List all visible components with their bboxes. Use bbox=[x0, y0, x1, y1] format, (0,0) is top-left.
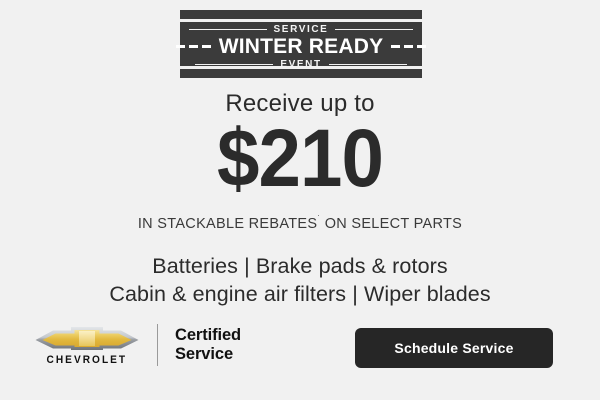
banner-footer-label: EVENT bbox=[280, 60, 321, 70]
banner-dashes-right-icon bbox=[391, 45, 426, 48]
certified-line-2: Service bbox=[175, 345, 241, 364]
banner-rule-left-icon bbox=[189, 29, 267, 30]
banner-title-row: WINTER READY bbox=[180, 35, 422, 57]
chevrolet-certified-service-lockup: CHEVROLET Certified Service bbox=[30, 324, 241, 366]
chevrolet-wordmark: CHEVROLET bbox=[46, 355, 127, 366]
banner-rule-left-lower-icon bbox=[195, 64, 273, 65]
banner-rule-right-lower-icon bbox=[329, 64, 407, 65]
banner-eyebrow-label: SERVICE bbox=[274, 25, 329, 35]
banner-footer-row: EVENT bbox=[180, 58, 422, 71]
parts-line-2: Cabin & engine air filters | Wiper blade… bbox=[0, 280, 600, 308]
chevrolet-logo-block: CHEVROLET bbox=[30, 325, 143, 366]
banner-rule-right-icon bbox=[335, 29, 413, 30]
advertisement-root: SERVICE WINTER READY EVENT Receive up to… bbox=[0, 0, 600, 400]
offer-disclaimer-tail: ON SELECT PARTS bbox=[320, 216, 462, 232]
offer-amount: $210 bbox=[21, 118, 579, 200]
schedule-service-button[interactable]: Schedule Service bbox=[355, 328, 553, 368]
parts-line-1: Batteries | Brake pads & rotors bbox=[0, 252, 600, 280]
chevrolet-bowtie-icon bbox=[33, 325, 141, 352]
certified-service-label: Certified Service bbox=[175, 326, 241, 365]
eligible-parts-list: Batteries | Brake pads & rotors Cabin & … bbox=[0, 252, 600, 309]
certified-line-1: Certified bbox=[175, 326, 241, 345]
banner-body: SERVICE WINTER READY EVENT bbox=[180, 22, 422, 66]
offer-disclaimer: IN STACKABLE REBATES˙ ON SELECT PARTS bbox=[0, 215, 600, 231]
winter-ready-banner: SERVICE WINTER READY EVENT bbox=[180, 10, 422, 78]
banner-title: WINTER READY bbox=[219, 36, 384, 57]
banner-top-bar bbox=[180, 10, 422, 19]
offer-disclaimer-main: IN STACKABLE REBATES bbox=[138, 216, 318, 232]
banner-dashes-left-icon bbox=[176, 45, 211, 48]
lockup-divider bbox=[157, 324, 158, 366]
